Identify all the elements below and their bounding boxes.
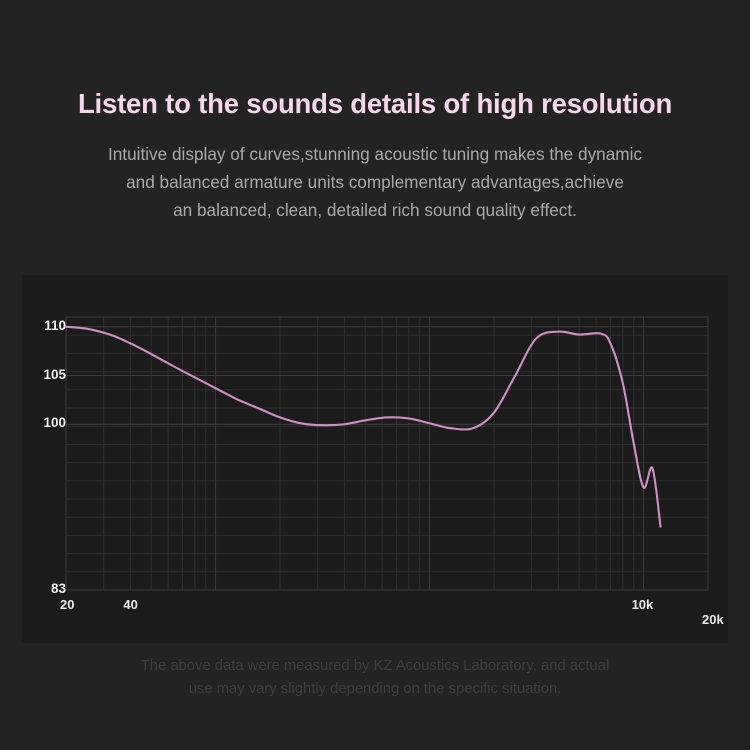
x-tick-20k: 20k	[702, 612, 724, 627]
x-tick-40: 40	[123, 597, 137, 612]
x-tick-10k: 10k	[632, 597, 654, 612]
x-axis-tick-labels: 204010k20k	[22, 275, 728, 643]
measurement-disclaimer: The above data were measured by KZ Acous…	[0, 655, 750, 701]
subtitle-line-2: and balanced armature units complementar…	[0, 168, 750, 196]
heading-block: Listen to the sounds details of high res…	[0, 86, 750, 224]
product-feature-page: Listen to the sounds details of high res…	[0, 0, 750, 750]
frequency-response-chart-panel: 11010510083 204010k20k	[22, 275, 728, 643]
subtitle-line-3: an balanced, clean, detailed rich sound …	[0, 196, 750, 224]
page-title: Listen to the sounds details of high res…	[0, 86, 750, 122]
subtitle-line-1: Intuitive display of curves,stunning aco…	[0, 140, 750, 168]
disclaimer-line-1: The above data were measured by KZ Acous…	[0, 655, 750, 678]
disclaimer-line-2: use may vary slightly depending on the s…	[0, 678, 750, 701]
page-subtitle: Intuitive display of curves,stunning aco…	[0, 140, 750, 224]
x-tick-20: 20	[60, 597, 74, 612]
